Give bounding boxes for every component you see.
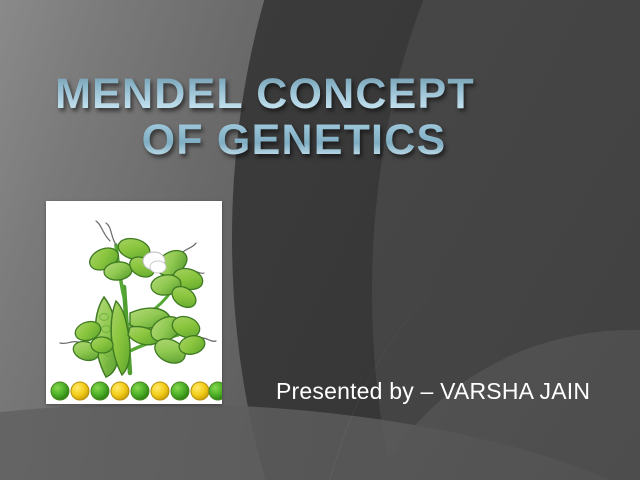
background-seam-line [300,250,640,480]
background-sweep-bottom [0,404,640,480]
slide-title: MENDEL CONCEPT OF GENETICS [30,72,500,163]
pea-plant-illustration [46,201,222,404]
presenter-credit: Presented by – VARSHA JAIN [276,378,590,405]
background-wedge-bottom-right [352,330,640,480]
pea-row [51,382,222,400]
slide-title-line-2: OF GENETICS [30,118,500,164]
presentation-slide: MENDEL CONCEPT OF GENETICS [0,0,640,480]
slide-title-line-1: MENDEL CONCEPT [30,72,500,118]
pea-plant-graphic [46,201,222,404]
